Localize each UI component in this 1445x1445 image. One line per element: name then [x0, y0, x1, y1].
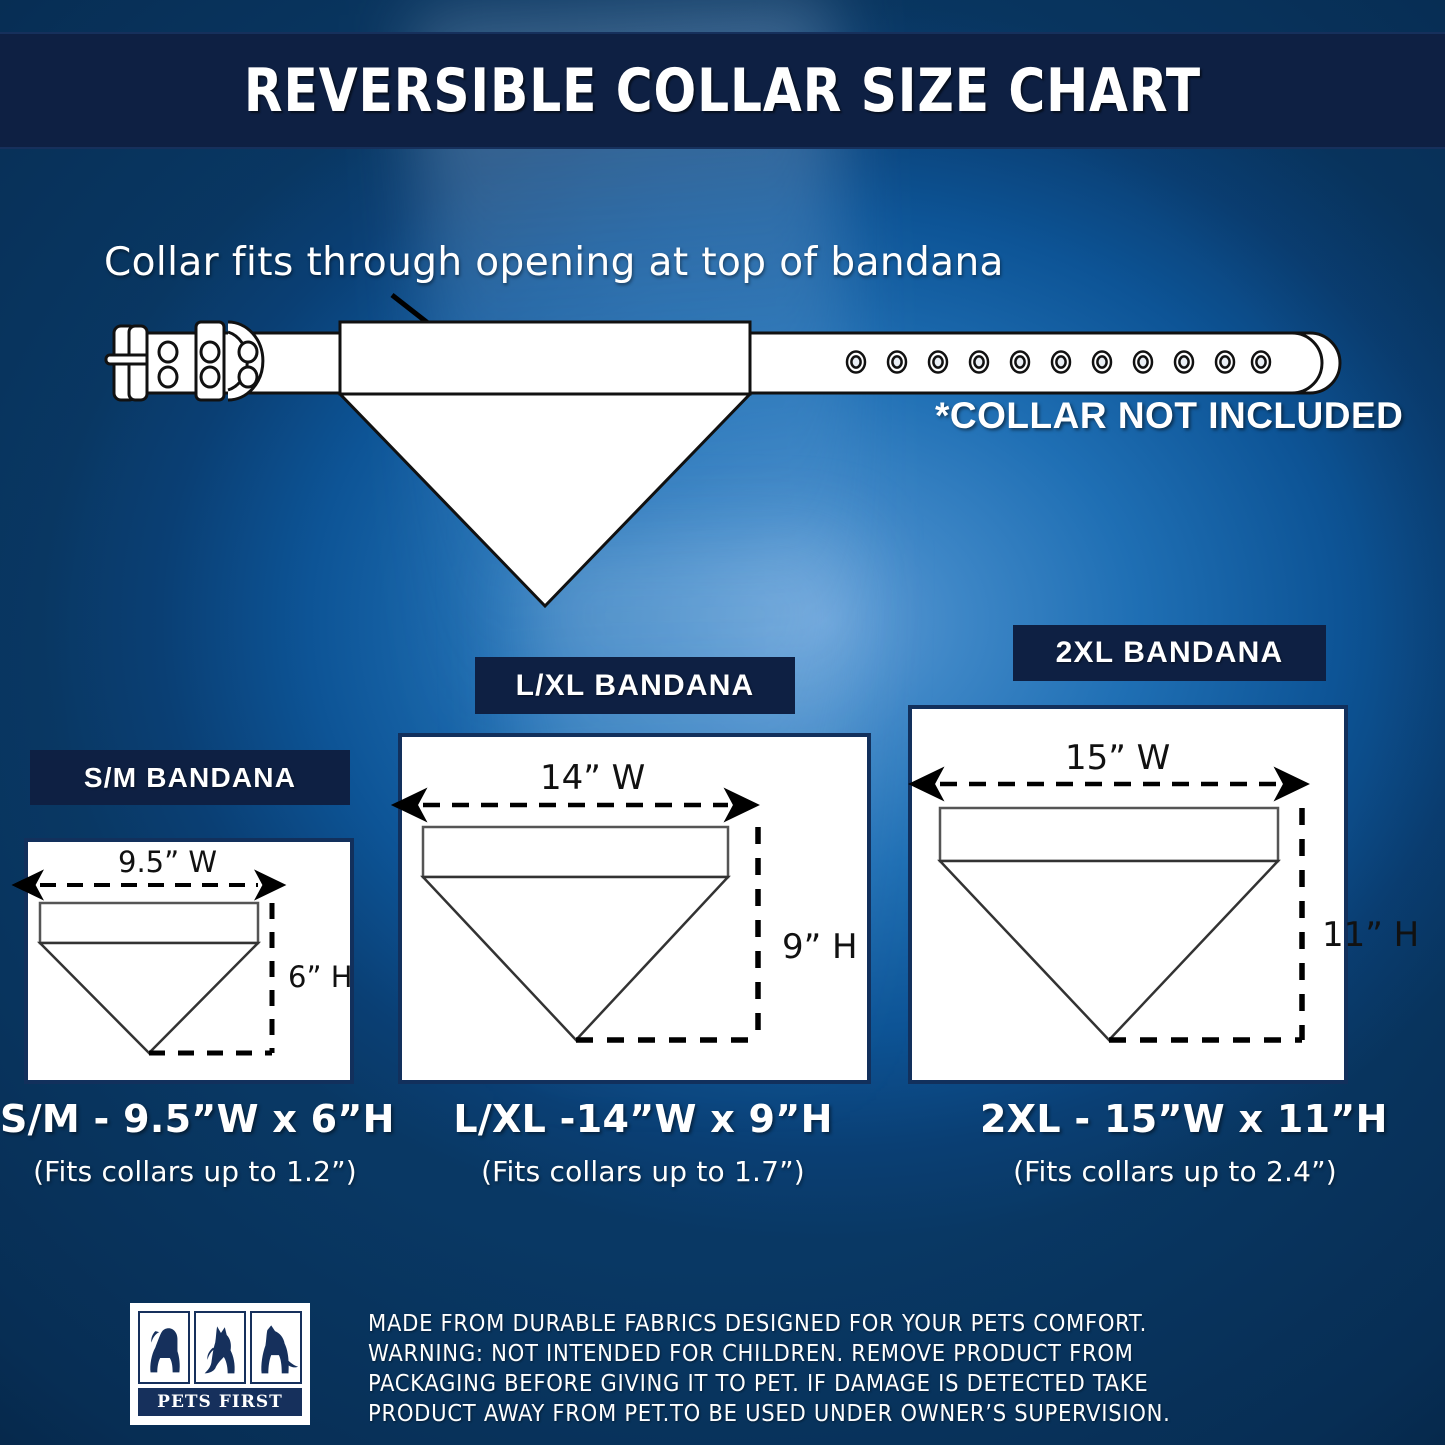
lxl-height-label: 9” H [782, 927, 858, 967]
sm-caption-size: S/M - 9.5”W x 6”H [0, 1097, 390, 1141]
2xl-caption: 2XL - 15”W x 11”H (Fits collars up to 2.… [980, 1097, 1370, 1188]
dog-silhouette-3-icon [250, 1311, 302, 1384]
sm-width-label: 9.5” W [118, 845, 217, 879]
diagram-artwork-top [0, 0, 1445, 1445]
footer-line-1: MADE FROM DURABLE FABRICS DESIGNED FOR Y… [368, 1308, 1368, 1338]
2xl-height-label: 11” H [1322, 915, 1419, 955]
2xl-bandana-shape [940, 784, 1302, 1040]
size-chart-page: REVERSIBLE COLLAR SIZE CHART Collar fits… [0, 0, 1445, 1445]
2xl-width-label: 15” W [1065, 738, 1170, 778]
2xl-caption-fit: (Fits collars up to 2.4”) [980, 1155, 1370, 1188]
sm-caption-fit: (Fits collars up to 1.2”) [0, 1155, 390, 1188]
lxl-bandana-shape [423, 805, 758, 1040]
lxl-caption-size: L/XL -14”W x 9”H [448, 1097, 838, 1141]
lxl-caption-fit: (Fits collars up to 1.7”) [448, 1155, 838, 1188]
dog-silhouette-2-icon [194, 1311, 246, 1384]
sm-size-label: S/M BANDANA [30, 750, 350, 805]
sm-bandana-shape [40, 885, 272, 1053]
2xl-caption-size: 2XL - 15”W x 11”H [980, 1097, 1370, 1141]
sm-caption: S/M - 9.5”W x 6”H (Fits collars up to 1.… [0, 1097, 390, 1188]
lxl-size-label: L/XL BANDANA [475, 657, 795, 714]
2xl-size-label: 2XL BANDANA [1013, 625, 1326, 681]
brand-logo: PETS FIRST [130, 1303, 310, 1425]
dog-silhouette-1-icon [138, 1311, 190, 1384]
footer-line-4: PRODUCT AWAY FROM PET.TO BE USED UNDER O… [368, 1398, 1368, 1428]
brand-name: PETS FIRST [138, 1388, 302, 1416]
logo-dog-panels [133, 1306, 307, 1384]
sm-height-label: 6” H [288, 960, 353, 994]
lxl-width-label: 14” W [540, 758, 645, 798]
footer-line-2: WARNING: NOT INTENDED FOR CHILDREN. REMO… [368, 1338, 1368, 1368]
footer-disclaimer: MADE FROM DURABLE FABRICS DESIGNED FOR Y… [368, 1308, 1368, 1428]
lxl-caption: L/XL -14”W x 9”H (Fits collars up to 1.7… [448, 1097, 838, 1188]
footer-line-3: PACKAGING BEFORE GIVING IT TO PET. IF DA… [368, 1368, 1368, 1398]
